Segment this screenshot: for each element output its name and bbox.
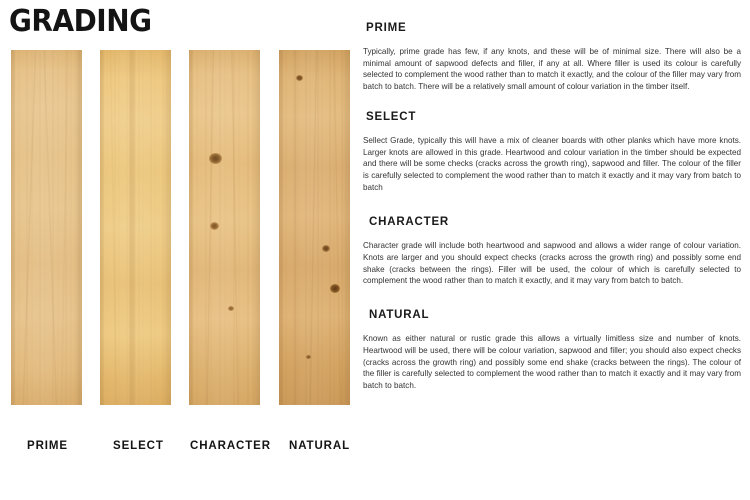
grade-section-prime: PRIME Typically, prime grade has few, if… — [363, 22, 741, 93]
grade-section-natural: NATURAL Known as either natural or rusti… — [363, 309, 741, 392]
grade-heading-character: CHARACTER — [363, 216, 741, 228]
wood-edge-shading — [11, 50, 82, 405]
wood-edge-shading — [279, 50, 350, 405]
grade-heading-natural: NATURAL — [363, 309, 741, 321]
grade-heading-select: SELECT — [363, 111, 741, 123]
grade-heading-prime: PRIME — [363, 22, 741, 34]
wood-sample-character — [189, 50, 260, 405]
grade-body-select: Sellect Grade, typically this will have … — [363, 135, 741, 194]
grade-body-character: Character grade will include both heartw… — [363, 240, 741, 287]
grade-body-prime: Typically, prime grade has few, if any k… — [363, 46, 741, 93]
wood-sample-prime — [11, 50, 82, 405]
wood-edge-shading — [100, 50, 171, 405]
grade-descriptions: PRIME Typically, prime grade has few, if… — [363, 22, 741, 392]
sample-caption-character: CHARACTER — [190, 440, 271, 452]
grade-section-character: CHARACTER Character grade will include b… — [363, 216, 741, 287]
grade-section-select: SELECT Sellect Grade, typically this wil… — [363, 111, 741, 194]
wood-sample-gallery: PRIME SELECT CHARACTER NATURAL — [0, 50, 360, 460]
wood-sample-natural — [279, 50, 350, 405]
sample-caption-natural: NATURAL — [289, 440, 350, 452]
grade-body-natural: Known as either natural or rustic grade … — [363, 333, 741, 392]
wood-edge-shading — [189, 50, 260, 405]
sample-caption-select: SELECT — [113, 440, 164, 452]
sample-caption-prime: PRIME — [27, 440, 68, 452]
page-title: GRADING — [9, 4, 152, 39]
grading-page: GRADING — [0, 0, 750, 500]
wood-sample-select — [100, 50, 171, 405]
